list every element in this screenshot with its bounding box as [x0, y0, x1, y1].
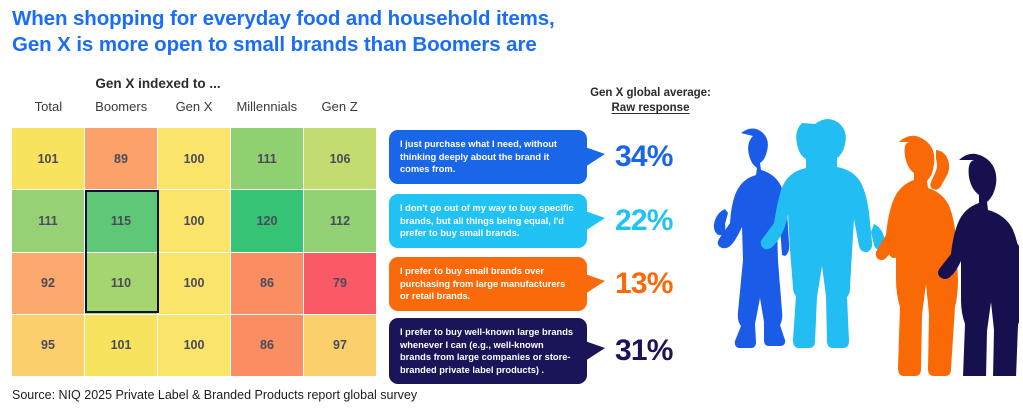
heatmap-cell: 101	[12, 128, 84, 189]
bubble-tail-icon-2	[585, 211, 605, 231]
column-header-total: Total	[12, 99, 85, 114]
people-silhouettes-group	[703, 112, 1019, 376]
page-title-line-2: Gen X is more open to small brands than …	[12, 32, 652, 58]
heatmap-cell: 100	[158, 190, 230, 251]
heatmap-cell: 92	[12, 253, 84, 314]
heatmap-cell: 100	[158, 253, 230, 314]
heatmap-cell: 100	[158, 128, 230, 189]
column-header-genx: Gen X	[158, 99, 231, 114]
source-note: Source: NIQ 2025 Private Label & Branded…	[12, 388, 417, 402]
heatmap-cell: 97	[304, 315, 376, 376]
heatmap-grid: 1018910011110611111510012011292110100867…	[12, 128, 376, 376]
gen-x-global-average-header: Gen X global average: Raw response	[583, 86, 718, 116]
statement-bubble-2: I don't go out of my way to buy specific…	[389, 194, 587, 248]
heatmap-cell: 106	[304, 128, 376, 189]
page-title-line-1: When shopping for everyday food and hous…	[12, 6, 652, 32]
heatmap-cell: 111	[231, 128, 303, 189]
avg-header-line-1: Gen X global average:	[583, 86, 718, 101]
statement-bubble-1: I just purchase what I need, without thi…	[389, 130, 587, 184]
percent-value-3: 13%	[615, 267, 673, 301]
column-header-boomers: Boomers	[85, 99, 158, 114]
statement-bubble-3: I prefer to buy small brands over purcha…	[389, 257, 587, 311]
heatmap-cell: 100	[158, 315, 230, 376]
column-header-row: Total Boomers Gen X Millennials Gen Z	[12, 99, 376, 114]
column-header-genz: Gen Z	[303, 99, 376, 114]
bubble-tail-icon-4	[585, 341, 605, 361]
heatmap-cell: 89	[85, 128, 157, 189]
woman-on-phone-icon	[876, 136, 958, 376]
statement-text-4: I prefer to buy well-known large brands …	[400, 327, 573, 375]
callout-row-2: I don't go out of my way to buy specific…	[389, 194, 673, 248]
heatmap-cell: 95	[12, 315, 84, 376]
percent-value-2: 22%	[615, 204, 673, 238]
callout-row-3: I prefer to buy small brands over purcha…	[389, 257, 673, 311]
heatmap-cell: 112	[304, 190, 376, 251]
percent-value-4: 31%	[615, 334, 673, 368]
heatmap-cell: 110	[85, 253, 157, 314]
callout-row-1: I just purchase what I need, without thi…	[389, 130, 673, 184]
heatmap-cell: 120	[231, 190, 303, 251]
heatmap-cell: 115	[85, 190, 157, 251]
page-title: When shopping for everyday food and hous…	[12, 6, 652, 58]
percent-value-1: 34%	[615, 140, 673, 174]
heatmap-cell: 86	[231, 253, 303, 314]
callout-row-4: I prefer to buy well-known large brands …	[389, 318, 673, 384]
heatmap-cell: 101	[85, 315, 157, 376]
indexed-to-label: Gen X indexed to ...	[12, 76, 304, 91]
statement-text-3: I prefer to buy small brands over purcha…	[400, 266, 565, 301]
statement-text-2: I don't go out of my way to buy specific…	[400, 203, 574, 238]
bubble-tail-icon-1	[585, 147, 605, 167]
heatmap-cell: 79	[304, 253, 376, 314]
avg-header-line-2: Raw response	[583, 101, 718, 116]
heatmap-cell: 86	[231, 315, 303, 376]
statement-text-1: I just purchase what I need, without thi…	[400, 139, 557, 174]
heatmap-cell: 111	[12, 190, 84, 251]
statement-bubble-4: I prefer to buy well-known large brands …	[389, 318, 587, 384]
table-header-group: Gen X indexed to ... Total Boomers Gen X…	[12, 76, 376, 114]
column-header-millennials: Millennials	[230, 99, 303, 114]
bubble-tail-icon-3	[585, 274, 605, 294]
